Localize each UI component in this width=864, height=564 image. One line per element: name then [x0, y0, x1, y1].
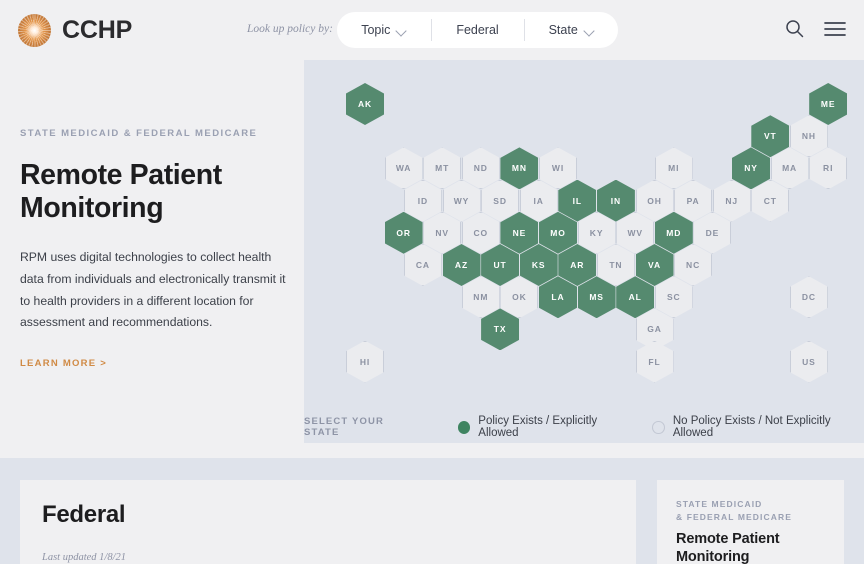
state-hex-label: AL [629, 292, 642, 302]
legend-hollow-dot-icon [652, 421, 664, 434]
sidebar-topic-card[interactable]: STATE MEDICAID & FEDERAL MEDICARE Remote… [657, 480, 844, 564]
policy-lookup-pill: Topic Federal State [337, 12, 618, 48]
sidebar-card-eyebrow-line2: & FEDERAL MEDICARE [676, 512, 792, 522]
state-hex-label: PA [687, 196, 700, 206]
lookup-topic-label: Topic [361, 23, 390, 37]
state-hex-label: DC [802, 292, 816, 302]
page-title: Remote Patient Monitoring [20, 159, 288, 225]
state-hex-dc[interactable]: DC [790, 276, 828, 318]
lookup-federal-button[interactable]: Federal [431, 12, 525, 48]
legend-item-policy-exists: Policy Exists / Explicitly Allowed [458, 415, 632, 439]
lookup-federal-label: Federal [456, 23, 498, 37]
state-hex-label: KY [590, 228, 604, 238]
state-hex-label: WY [454, 196, 470, 206]
state-hex-label: ME [821, 99, 836, 109]
federal-card-title: Federal [42, 501, 125, 529]
state-hex-label: RI [823, 163, 833, 173]
state-hex-label: ND [474, 163, 488, 173]
state-hex-label: MA [782, 163, 797, 173]
sidebar-card-title: Remote Patient Monitoring [676, 530, 844, 564]
learn-more-link[interactable]: LEARN MORE > [20, 358, 107, 369]
state-hex-label: NC [686, 260, 700, 270]
state-hex-label: VA [648, 260, 661, 270]
state-hex-label: AR [570, 260, 584, 270]
header-icon-group [785, 19, 846, 38]
state-hex-label: SC [667, 292, 681, 302]
hero-eyebrow: STATE MEDICAID & FEDERAL MEDICARE [20, 128, 288, 139]
state-hex-label: MO [550, 228, 566, 238]
state-hex-label: NY [744, 163, 758, 173]
search-icon[interactable] [785, 19, 804, 38]
state-hex-label: GA [647, 324, 662, 334]
state-hex-label: MT [435, 163, 449, 173]
state-hex-label: WV [627, 228, 643, 238]
chevron-down-icon [397, 26, 406, 35]
state-hex-label: MN [512, 163, 527, 173]
state-hex-label: ID [418, 196, 428, 206]
state-hex-label: VT [764, 131, 777, 141]
hero-content: STATE MEDICAID & FEDERAL MEDICARE Remote… [20, 128, 288, 371]
state-hex-label: US [802, 357, 816, 367]
sidebar-card-eyebrow: STATE MEDICAID & FEDERAL MEDICARE [676, 498, 792, 524]
page-root: CCHP Look up policy by: Topic Federal St… [0, 0, 864, 564]
legend-filled-dot-icon [458, 421, 470, 434]
hero-description: RPM uses digital technologies to collect… [20, 247, 288, 334]
state-hex-label: NM [473, 292, 488, 302]
state-hex-label: CO [474, 228, 489, 238]
state-hex-label: NV [435, 228, 449, 238]
state-hex-label: CA [416, 260, 430, 270]
sidebar-card-eyebrow-line1: STATE MEDICAID [676, 499, 762, 509]
legend-label-no-policy: No Policy Exists / Not Explicitly Allowe… [673, 415, 864, 439]
state-hex-label: OK [512, 292, 527, 302]
lookup-state-button[interactable]: State [524, 12, 618, 48]
state-hex-label: OH [647, 196, 662, 206]
state-hex-label: WA [396, 163, 412, 173]
site-header: CCHP Look up policy by: Topic Federal St… [0, 0, 864, 60]
hamburger-menu-icon[interactable] [824, 21, 846, 37]
state-hex-label: IN [611, 196, 621, 206]
state-hex-hi[interactable]: HI [346, 341, 384, 383]
state-hex-label: OR [396, 228, 411, 238]
state-hex-label: DE [706, 228, 720, 238]
brand-name: CCHP [62, 16, 132, 45]
state-hex-label: TN [609, 260, 622, 270]
legend-item-no-policy: No Policy Exists / Not Explicitly Allowe… [652, 415, 864, 439]
state-hex-fl[interactable]: FL [636, 341, 674, 383]
lookup-state-label: State [549, 23, 578, 37]
state-hex-label: MI [668, 163, 679, 173]
state-hex-label: WI [552, 163, 564, 173]
state-hex-label: TX [494, 324, 507, 334]
state-map-panel: AKMEVTNHWAMTNDMNWIMINYMARIIDWYSDIAILINOH… [304, 60, 864, 443]
legend-label-policy-exists: Policy Exists / Explicitly Allowed [478, 415, 632, 439]
state-hex-label: HI [360, 357, 370, 367]
state-hex-us[interactable]: US [790, 341, 828, 383]
state-hex-label: IA [534, 196, 544, 206]
state-hex-label: AK [358, 99, 372, 109]
state-hex-label: CT [764, 196, 777, 206]
chevron-down-icon [585, 26, 594, 35]
map-legend: SELECT YOUR STATE Policy Exists / Explic… [304, 415, 864, 439]
state-hex-label: NE [513, 228, 527, 238]
sunburst-logo-icon [18, 14, 51, 47]
lookup-policy-label: Look up policy by: [247, 23, 333, 35]
state-hex-label: KS [532, 260, 546, 270]
lookup-topic-button[interactable]: Topic [337, 12, 431, 48]
state-hex-label: MS [589, 292, 604, 302]
state-hex-label: UT [494, 260, 507, 270]
select-your-state-label[interactable]: SELECT YOUR STATE [304, 416, 418, 438]
state-hex-label: AZ [455, 260, 468, 270]
state-hex-label: NH [802, 131, 816, 141]
state-hex-label: IL [573, 196, 582, 206]
state-hex-label: LA [551, 292, 564, 302]
state-hex-label: MD [666, 228, 681, 238]
brand-logo[interactable]: CCHP [18, 14, 132, 47]
federal-card: Federal Last updated 1/8/21 [20, 480, 636, 564]
state-hex-label: FL [648, 357, 660, 367]
state-hex-label: SD [493, 196, 507, 206]
federal-card-last-updated: Last updated 1/8/21 [42, 552, 126, 563]
state-hex-ak[interactable]: AK [346, 83, 384, 125]
state-hex-label: NJ [725, 196, 738, 206]
hex-state-map[interactable]: AKMEVTNHWAMTNDMNWIMINYMARIIDWYSDIAILINOH… [304, 60, 864, 390]
